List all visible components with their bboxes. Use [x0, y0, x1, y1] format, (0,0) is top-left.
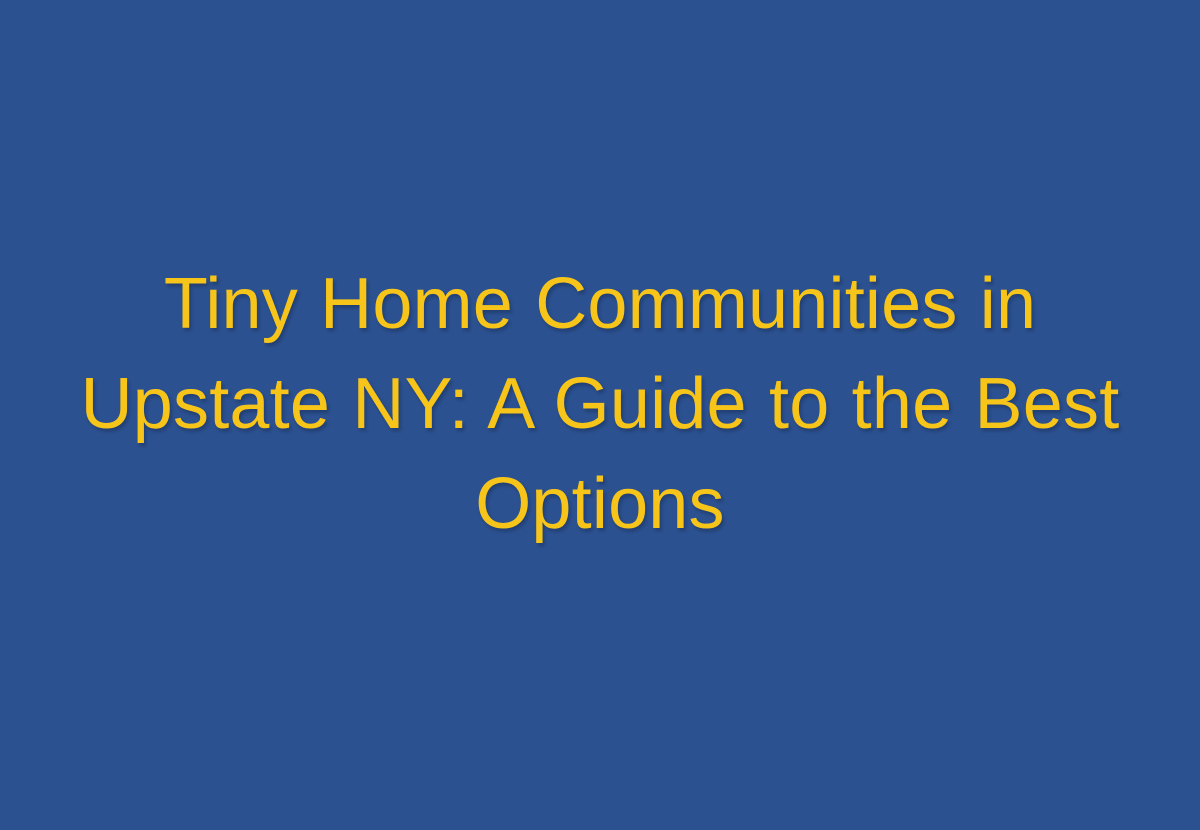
- title-card-banner: Tiny Home Communities in Upstate NY: A G…: [0, 0, 1200, 830]
- title-line-1: Tiny Home Communities in: [70, 254, 1130, 354]
- title-block: Tiny Home Communities in Upstate NY: A G…: [50, 254, 1150, 554]
- title-line-3: Options: [70, 454, 1130, 554]
- title-line-2: Upstate NY: A Guide to the Best: [70, 354, 1130, 454]
- page-title: Tiny Home Communities in Upstate NY: A G…: [70, 254, 1130, 554]
